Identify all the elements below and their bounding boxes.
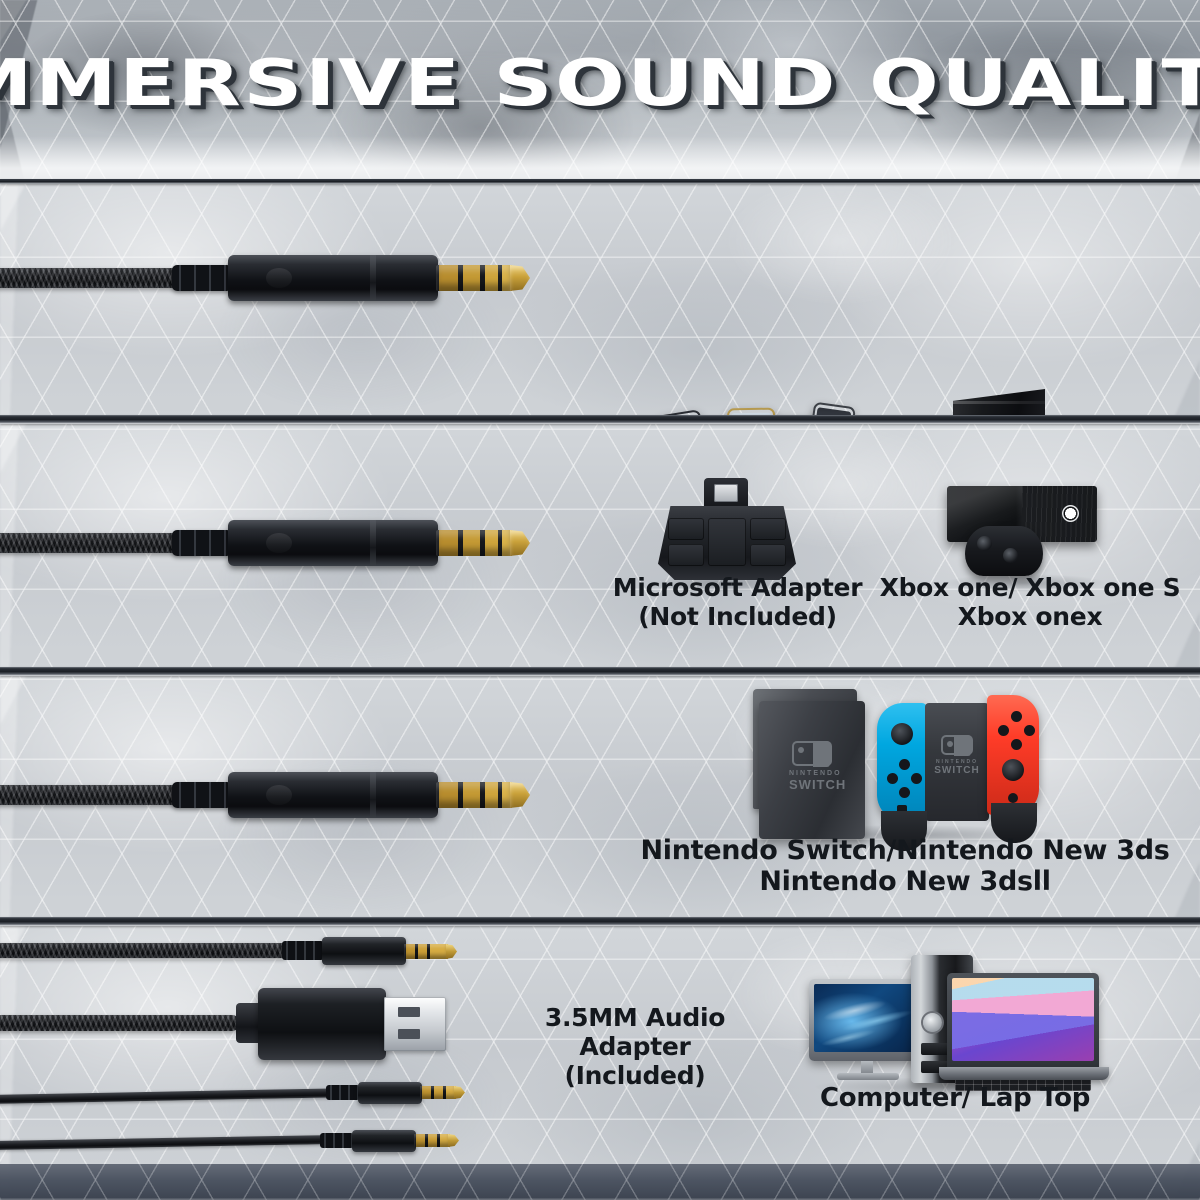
barrel-ring [370,255,376,301]
thin-cable-2 [0,1135,326,1150]
monitor-stand-base [837,1073,899,1080]
divider-1 [0,179,1200,184]
joycon-dpad-left [887,773,898,784]
laptop-base [939,1067,1109,1080]
connector-barrel-2 [352,1130,416,1152]
gold-plug-contacts-1 [420,1086,456,1099]
strain-relief [172,265,232,291]
joycon-home-button [1008,793,1018,803]
switch-dock: NINTENDO SWITCH [759,701,865,839]
braided-cable-top [0,943,290,958]
switch-logo-switch: SWITCH [934,765,980,776]
laptop-icon [947,973,1099,1067]
nintendo-switch-logo-icon-grip: NINTENDO SWITCH [934,735,980,776]
strain-relief-2 [320,1133,354,1148]
gold-plug-tip [510,265,530,291]
usb-connector-body [258,988,386,1060]
gold-plug-contacts-2 [414,1134,450,1147]
hexagon-pattern-bottom [0,1164,1200,1200]
header-banner: IMMERSIVE SOUND QUALITY [0,0,1200,182]
power-button[interactable] [923,1013,942,1032]
adapter-body [658,506,796,580]
gold-plug-tip [510,530,530,556]
gold-plug-tip-top [446,944,457,959]
label-computer-laptop: Computer/ Lap Top [790,1083,1120,1113]
joycon-button-a [1024,725,1035,736]
usb-metal-contact [384,997,446,1051]
monitor-screen [814,984,922,1052]
connector-barrel-1 [358,1082,422,1104]
adapter-button-volume-down [750,544,786,566]
joycon-button-b [1011,739,1022,750]
joycon-button-y [998,725,1009,736]
switch-logo-switch: SWITCH [789,777,835,792]
compatibility-row-3: NINTENDO SWITCH NINTENDO SWITCH [0,675,1200,920]
braided-cable-usb [0,1015,240,1031]
joycon-dpad-up [899,759,910,770]
label-xbox: Xbox one/ Xbox one S Xbox onex [860,573,1200,631]
analog-stick-left [977,536,992,551]
adapter-connector [704,478,748,508]
cable-connector-row-1 [0,182,600,418]
divider-3 [0,667,1200,676]
label-audio-adapter: 3.5MM Audio Adapter (Included) [515,1003,755,1090]
divider-2 [0,415,1200,424]
compatibility-row-2: Microsoft Adapter (Not Included) Xbox on… [0,423,1200,670]
joycon-right-red [987,695,1039,815]
switch-logo-nintendo: NINTENDO [789,770,835,777]
switch-logo-mark [941,735,973,755]
label-nintendo: Nintendo Switch/Nintendo New 3ds Nintend… [610,835,1200,898]
gold-plug-tip-1 [454,1086,465,1099]
joycon-left-stick [891,723,913,745]
gold-plug-contacts [436,265,512,291]
switch-logo-mark [792,741,832,766]
adapter-button-volume-up [750,518,786,540]
gold-plug-tip [510,782,530,808]
joycon-left-blue [877,703,927,821]
analog-stick-right [1003,548,1018,563]
compatibility-row-1: Mobile /lpad PS PS4/ PS4 Slim PS4 Pro [0,182,1200,418]
nintendo-switch-logo-icon: NINTENDO SWITCH [789,741,835,792]
connector-barrel-top [322,937,406,965]
xbox-stereo-adapter-icon [650,478,820,588]
gold-plug-contacts [436,782,512,808]
joycon-grip-body: NINTENDO SWITCH [925,703,989,821]
cable-connector-row-3 [0,675,600,920]
connector-barrel [228,772,438,818]
divider-4 [0,917,1200,926]
xbox-one-console-icon [935,478,1120,588]
gold-plug-contacts-top [404,944,448,959]
strain-relief [172,530,232,556]
laptop-screen [952,978,1094,1061]
joycon-right-stick [1002,759,1024,781]
label-microsoft-adapter: Microsoft Adapter (Not Included) [565,573,910,631]
header-fade [0,136,1200,182]
barrel-ring [370,772,376,818]
audio-splitter-icon [0,925,520,1200]
adapter-button-mic [668,544,704,566]
xbox-controller-icon [965,526,1043,576]
cable-connector-row-2 [0,423,600,670]
joycon-button-x [1011,711,1022,722]
gold-plug-contacts [436,530,512,556]
joycon-dpad-right [911,773,922,784]
page-title: IMMERSIVE SOUND QUALITY [0,52,1200,116]
strain-relief-1 [326,1085,360,1100]
joycon-dpad-down [899,787,910,798]
adapter-button-center [708,518,746,566]
desktop-and-laptop-icon [805,953,1105,1093]
ps4-slim-console-icon: PS [945,387,1125,418]
strain-relief [172,782,232,808]
compatibility-row-4: 3.5MM Audio Adapter (Included) Computer/… [0,925,1200,1200]
strain-relief-top [282,941,324,960]
xbox-logo-icon [1062,505,1079,522]
nintendo-switch-dock-joycon-icon: NINTENDO SWITCH NINTENDO SWITCH [745,685,1075,845]
connector-barrel [228,255,438,301]
bottom-bar [0,1164,1200,1200]
barrel-ring [370,520,376,566]
monitor-icon [809,979,927,1061]
thin-cable-1 [0,1088,336,1104]
gold-plug-tip-2 [448,1134,459,1147]
adapter-button-mute [668,518,704,540]
connector-barrel [228,520,438,566]
ps4-console-body: PS [953,389,1045,418]
infographic-page: IMMERSIVE SOUND QUALITY [0,0,1200,1200]
